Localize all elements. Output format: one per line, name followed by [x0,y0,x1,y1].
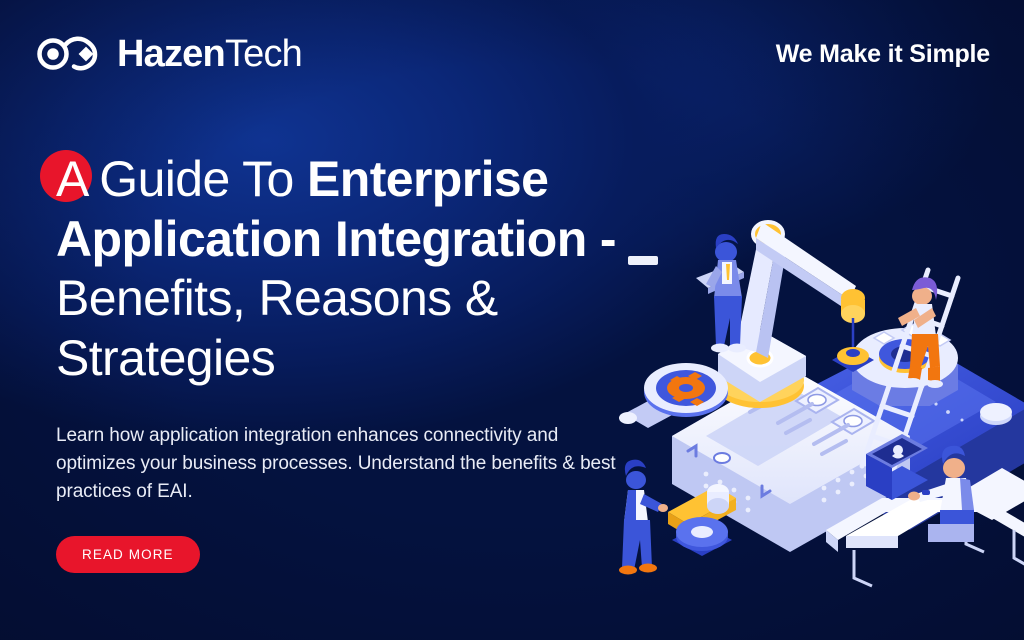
logo-word-light: Tech [225,33,302,75]
logo-wordmark: HazenTech [117,35,302,73]
blog-banner: HazenTech We Make it Simple A Guide To E… [0,0,1024,640]
hero-description: Learn how application integration enhanc… [56,422,616,506]
person-with-tablet-icon [696,234,746,353]
brand-tagline: We Make it Simple [776,40,990,69]
read-more-button[interactable]: READ MORE [56,536,200,573]
wrench-tool-icon [668,484,736,556]
headline-segment-tail: Benefits, Reasons & Strategies [56,270,498,386]
hero-copy-block: A Guide To Enterprise Application Integr… [56,150,676,573]
headline-segment-lead: A Guide To [56,151,307,207]
infinity-loop-icon [36,34,104,74]
hazentech-logo[interactable]: HazenTech [36,34,302,74]
logo-word-bold: Hazen [117,33,225,75]
banner-header: HazenTech We Make it Simple [0,0,1024,108]
page-title: A Guide To Enterprise Application Integr… [56,150,676,388]
